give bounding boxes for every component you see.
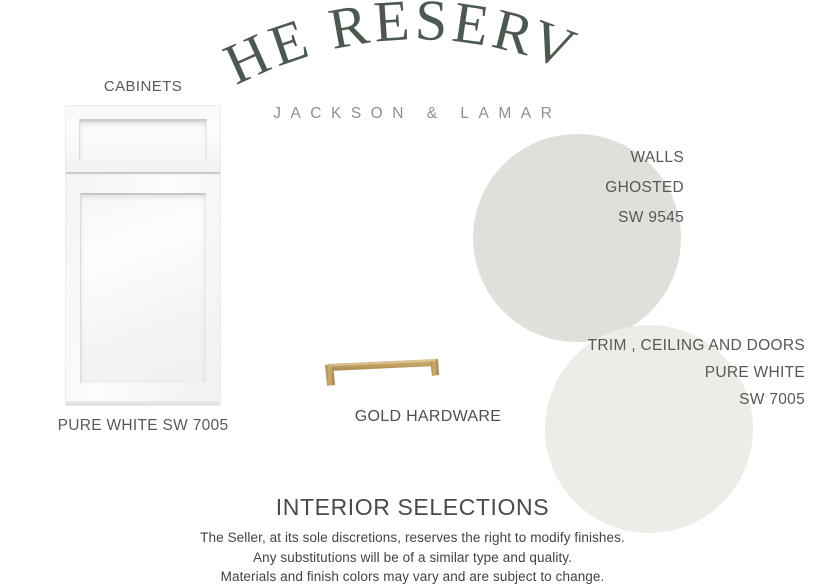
footer-title: INTERIOR SELECTIONS (0, 494, 825, 521)
disclaimer-line-2: Any substitutions will be of a similar t… (0, 548, 825, 568)
cabinet-color-caption: PURE WHITE SW 7005 (46, 412, 240, 440)
cabinet-door-image (66, 106, 220, 405)
swatch-label-trim: TRIM , CEILING AND DOORS PURE WHITE SW 7… (520, 332, 805, 413)
cabinet-lower-door (66, 175, 220, 405)
gold-hardware-image (318, 352, 446, 392)
swatch-walls-color-code: SW 9545 (480, 203, 684, 233)
swatch-trim-color-code: SW 7005 (520, 386, 805, 413)
cabinet-drawer-panel-inset (79, 119, 207, 162)
disclaimer-line-1: The Seller, at its sole discretions, res… (0, 528, 825, 548)
interior-selections-board: THE RESERVE JACKSON & LAMAR CABINETS PUR… (0, 0, 825, 584)
cabinets-label: CABINETS (66, 78, 220, 95)
swatch-trim-color-name: PURE WHITE (520, 359, 805, 386)
gold-hardware-caption: GOLD HARDWARE (318, 408, 538, 426)
cabinet-drawer-front (66, 106, 220, 172)
cabinet-bottom-edge (66, 401, 220, 405)
swatch-label-walls: WALLS GHOSTED SW 9545 (480, 143, 684, 233)
footer-block: INTERIOR SELECTIONS The Seller, at its s… (0, 494, 825, 587)
cabinet-color-name: PURE WHITE (58, 417, 158, 434)
swatch-walls-surface: WALLS (480, 143, 684, 173)
cabinet-door-panel-inset (80, 193, 206, 383)
swatch-walls-color-name: GHOSTED (480, 173, 684, 203)
cabinet-color-code: SW 7005 (163, 417, 229, 434)
swatch-trim-surface: TRIM , CEILING AND DOORS (520, 332, 805, 359)
